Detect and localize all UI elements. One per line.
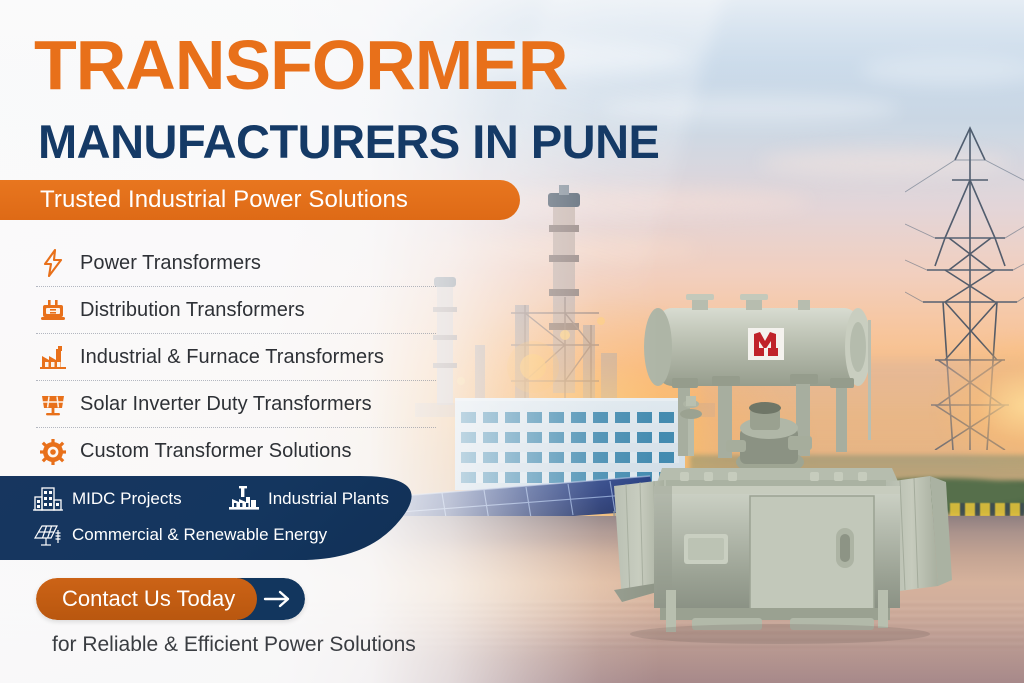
sector-item-midc-projects[interactable]: MIDC Projects — [32, 484, 182, 514]
sector-item-label: Commercial & Renewable Energy — [72, 525, 327, 545]
arrow-right-icon — [263, 589, 293, 609]
sector-item-label: MIDC Projects — [72, 489, 182, 509]
distribution-transformer-icon — [36, 295, 70, 325]
feature-item-power-transformers[interactable]: Power Transformers — [36, 240, 436, 287]
feature-item-distribution-transformers[interactable]: Distribution Transformers — [36, 287, 436, 334]
feature-item-industrial-furnace-transformers[interactable]: Industrial & Furnace Transformers — [36, 334, 436, 381]
feature-item-label: Distribution Transformers — [80, 299, 305, 322]
feature-item-custom-transformer-solutions[interactable]: Custom Transformer Solutions — [36, 428, 436, 475]
solar-panel-icon — [36, 389, 70, 419]
cta-label: Contact Us Today — [62, 586, 235, 612]
buildings-icon — [32, 484, 64, 514]
sector-item-industrial-plants[interactable]: Industrial Plants — [228, 484, 389, 514]
headline-primary: TRANSFORMER — [34, 30, 567, 100]
headline-secondary: MANUFACTURERS IN PUNE — [38, 118, 659, 165]
feature-item-solar-inverter-duty-transformers[interactable]: Solar Inverter Duty Transformers — [36, 381, 436, 428]
lightning-bolt-icon — [36, 248, 70, 278]
sector-item-commercial-renewable-energy[interactable]: Commercial & Renewable Energy — [32, 520, 327, 550]
industrial-plant-icon — [228, 484, 260, 514]
feature-list: Power Transformers Distribution Transfor… — [36, 240, 436, 475]
factory-icon — [36, 342, 70, 372]
sectors-panel: MIDC Projects — [0, 476, 436, 560]
sector-item-label: Industrial Plants — [268, 489, 389, 509]
feature-item-label: Power Transformers — [80, 252, 261, 275]
feature-item-label: Industrial & Furnace Transformers — [80, 346, 384, 369]
banner-content: TRANSFORMER MANUFACTURERS IN PUNE Truste… — [0, 0, 1024, 683]
cta-label-section[interactable]: Contact Us Today — [36, 578, 257, 620]
gear-icon — [36, 437, 70, 467]
subtitle-ribbon-label: Trusted Industrial Power Solutions — [0, 186, 408, 214]
solar-array-icon — [32, 520, 64, 550]
feature-item-label: Solar Inverter Duty Transformers — [80, 393, 372, 416]
contact-cta-button[interactable]: Contact Us Today — [36, 578, 305, 620]
subtitle-ribbon: Trusted Industrial Power Solutions — [0, 180, 520, 220]
feature-item-label: Custom Transformer Solutions — [80, 440, 352, 463]
marketing-banner: TRANSFORMER MANUFACTURERS IN PUNE Truste… — [0, 0, 1024, 683]
cta-tagline: for Reliable & Efficient Power Solutions — [52, 633, 416, 657]
